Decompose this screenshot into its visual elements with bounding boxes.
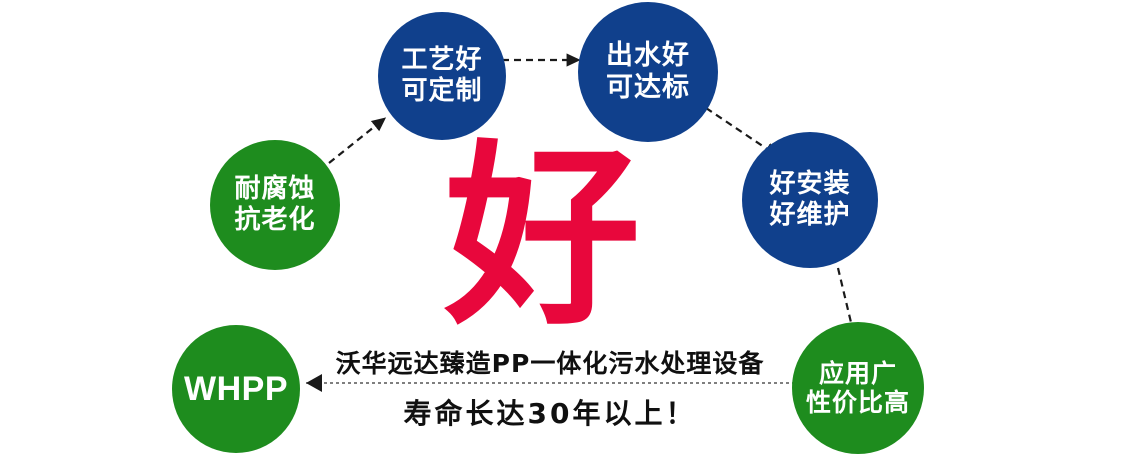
node-maintenance-line2: 好维护: [769, 200, 850, 231]
node-brand-label: WHPP: [184, 369, 288, 409]
node-easy-maintenance[interactable]: 好安装 好维护: [742, 132, 878, 268]
tagline-text: 沃华远达臻造PP一体化污水处理设备: [300, 344, 800, 380]
node-wide-application[interactable]: 应用广 性价比高: [792, 322, 924, 454]
node-process-quality[interactable]: 工艺好 可定制: [378, 12, 506, 140]
node-maintenance-line1: 好安装: [769, 169, 850, 200]
node-application-line2: 性价比高: [806, 388, 910, 418]
node-effluent-line1: 出水好: [606, 40, 690, 72]
center-hero-character: 好: [430, 138, 655, 338]
node-effluent-line2: 可达标: [606, 72, 690, 104]
node-corrosion-resistance[interactable]: 耐腐蚀 抗老化: [210, 140, 340, 270]
node-corrosion-line2: 抗老化: [234, 205, 315, 236]
lifespan-text: 寿命长达30年以上！: [320, 392, 780, 432]
infographic-canvas: 耐腐蚀 抗老化 工艺好 可定制 出水好 可达标 好安装 好维护 应用广 性价比高…: [0, 0, 1140, 456]
node-effluent-quality[interactable]: 出水好 可达标: [578, 2, 718, 142]
center-hero-text: 好: [444, 140, 640, 336]
connector-corrosion-to-process: [329, 119, 384, 163]
node-corrosion-line1: 耐腐蚀: [234, 174, 315, 205]
node-application-line1: 应用广: [819, 359, 897, 389]
node-brand-whpp[interactable]: WHPP: [172, 325, 300, 453]
node-process-line2: 可定制: [401, 76, 482, 107]
node-process-line1: 工艺好: [401, 45, 482, 76]
